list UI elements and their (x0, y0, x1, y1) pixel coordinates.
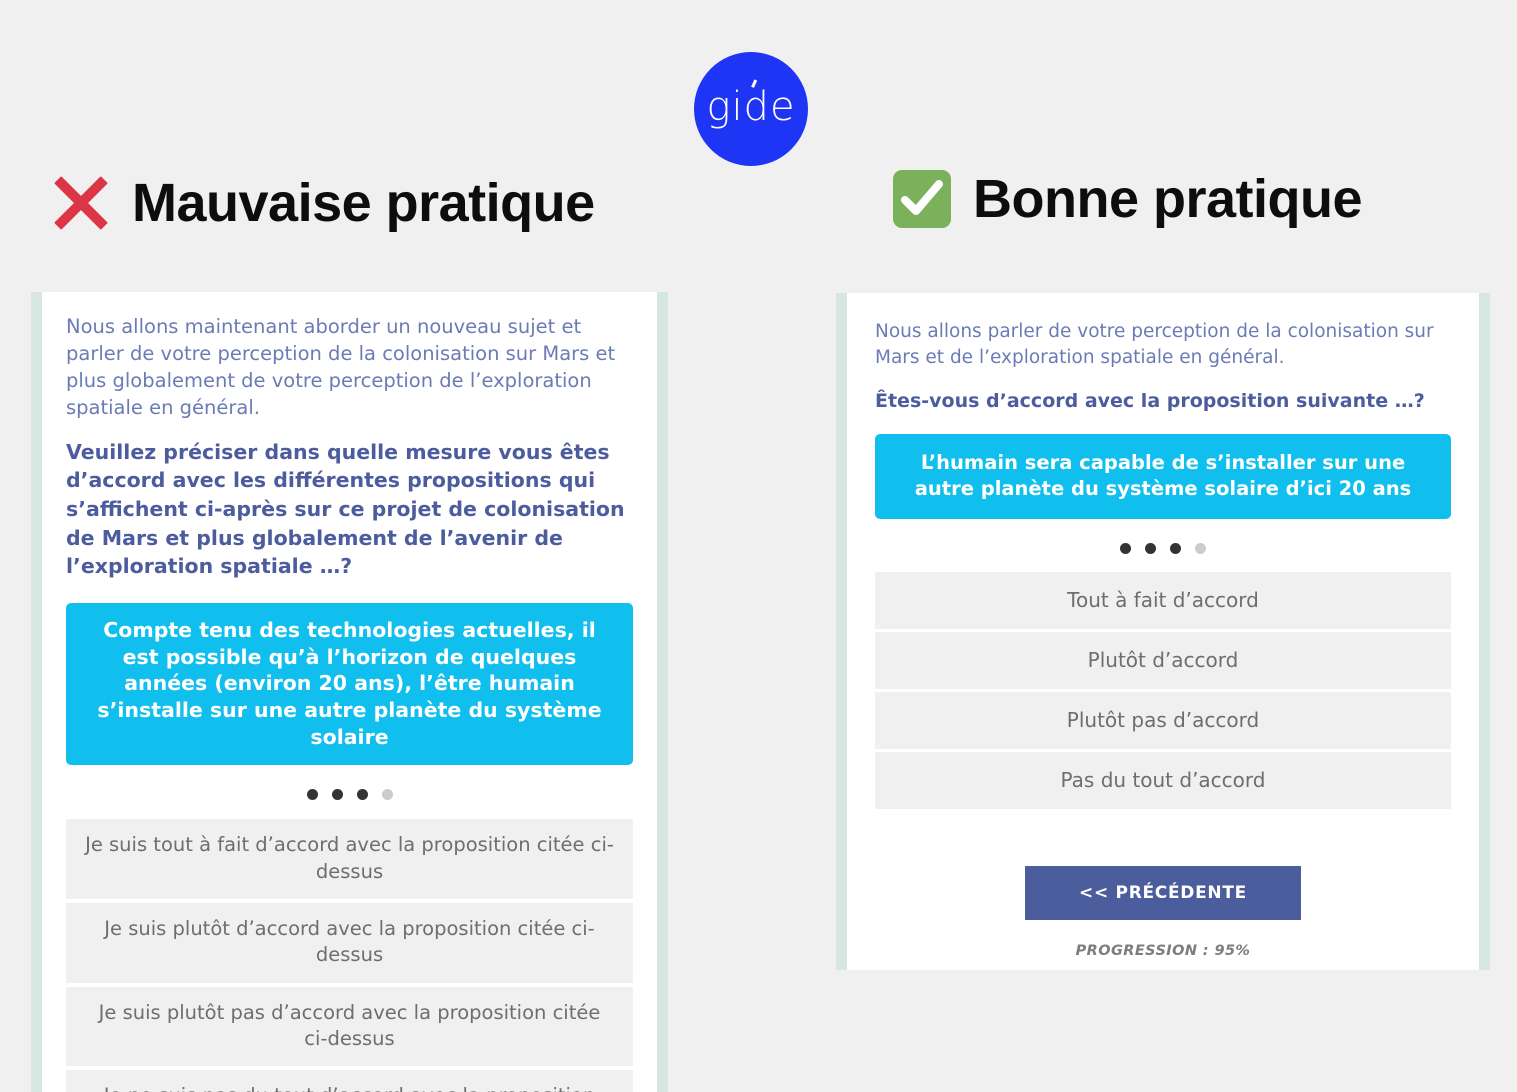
bad-practice-label: Mauvaise pratique (132, 172, 595, 234)
progress-dot (382, 789, 393, 800)
progress-dot (357, 789, 368, 800)
cross-icon (52, 174, 110, 232)
bad-question-text: Veuillez préciser dans quelle mesure vou… (66, 438, 633, 581)
bad-intro-text: Nous allons maintenant aborder un nouvea… (66, 314, 633, 422)
bad-progress-dots (66, 789, 633, 800)
good-practice-heading: Bonne pratique (893, 168, 1362, 230)
answer-option[interactable]: Plutôt pas d’accord (875, 692, 1451, 749)
good-intro-text: Nous allons parler de votre perception d… (875, 319, 1451, 372)
answer-option[interactable]: Pas du tout d’accord (875, 752, 1451, 809)
check-icon (893, 170, 951, 228)
answer-option[interactable]: Je suis plutôt d’accord avec la proposit… (66, 903, 633, 983)
progress-dot (1170, 543, 1181, 554)
answer-option[interactable]: Je suis plutôt pas d’accord avec la prop… (66, 987, 633, 1067)
answer-option[interactable]: Tout à fait d’accord (875, 572, 1451, 629)
good-practice-survey-card: Nous allons parler de votre perception d… (836, 293, 1490, 970)
progression-label: PROGRESSION : 95% (875, 943, 1451, 959)
good-question-text: Êtes-vous d’accord avec la proposition s… (875, 388, 1451, 415)
progress-dot (332, 789, 343, 800)
good-progress-dots (875, 543, 1451, 554)
brand-logo: gide (694, 52, 808, 166)
good-practice-label: Bonne pratique (973, 168, 1362, 230)
previous-button[interactable]: << PRÉCÉDENTE (1025, 866, 1301, 920)
progress-dot (307, 789, 318, 800)
logo-circle: gide (694, 52, 808, 166)
answer-option[interactable]: Je ne suis pas du tout d’accord avec la … (66, 1070, 633, 1092)
logo-text: gide (706, 87, 795, 127)
answer-option[interactable]: Plutôt d’accord (875, 632, 1451, 689)
previous-button-wrap: << PRÉCÉDENTE (875, 866, 1451, 920)
progress-dot (1195, 543, 1206, 554)
good-proposition-banner: L’humain sera capable de s’installer sur… (875, 434, 1451, 518)
bad-practice-survey-card: Nous allons maintenant aborder un nouvea… (31, 292, 668, 1092)
progress-dot (1145, 543, 1156, 554)
bad-practice-heading: Mauvaise pratique (52, 172, 595, 234)
progress-dot (1120, 543, 1131, 554)
bad-proposition-banner: Compte tenu des technologies actuelles, … (66, 603, 633, 765)
good-answer-options: Tout à fait d’accord Plutôt d’accord Plu… (875, 572, 1451, 809)
answer-option[interactable]: Je suis tout à fait d’accord avec la pro… (66, 819, 633, 899)
bad-answer-options: Je suis tout à fait d’accord avec la pro… (66, 819, 633, 1092)
